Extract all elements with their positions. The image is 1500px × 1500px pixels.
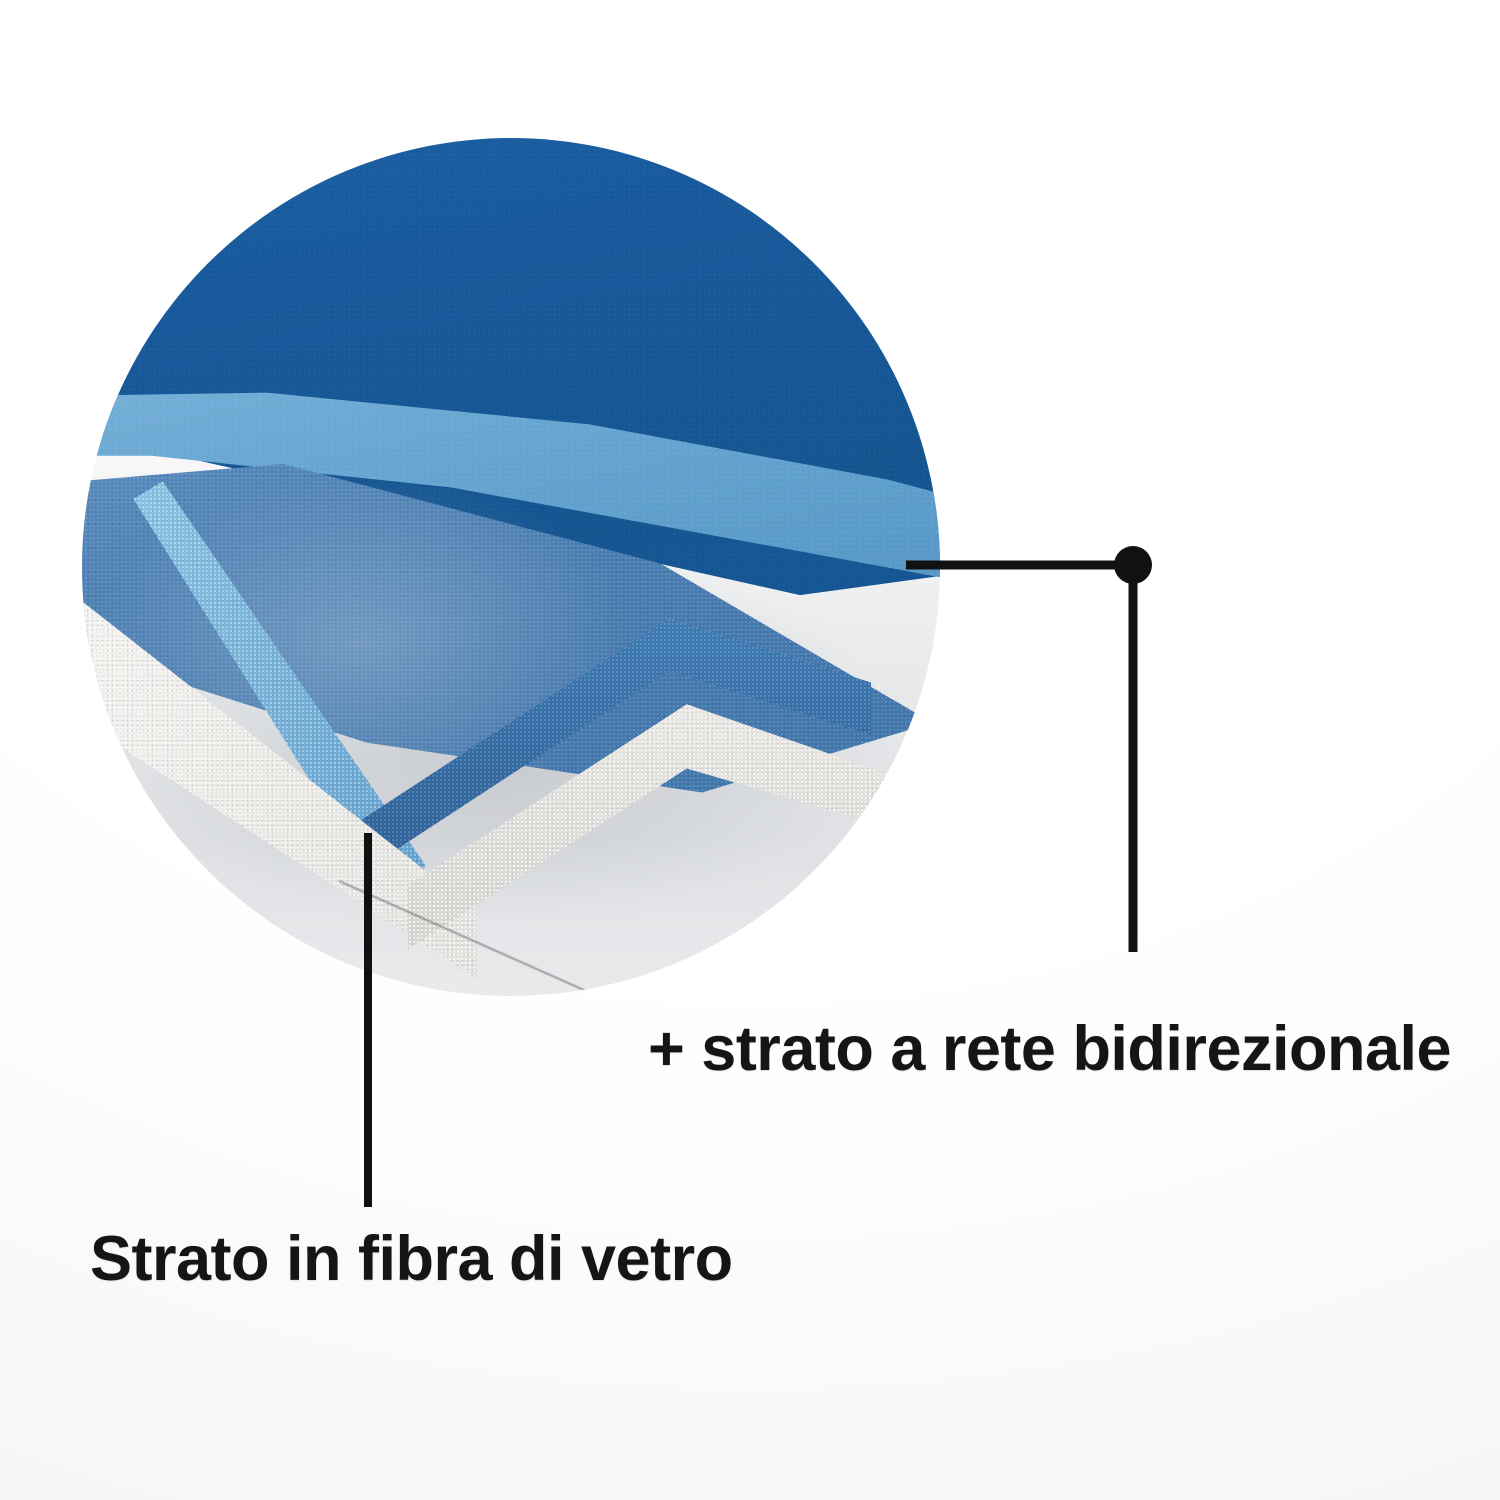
infographic-canvas: + strato a rete bidirezionale Strato in … <box>0 0 1500 1500</box>
product-circle-vignette <box>82 138 940 996</box>
mesh-callout-dot <box>1114 546 1152 584</box>
callout-label-fiberglass: Strato in fibra di vetro <box>90 1228 733 1291</box>
callout-label-bidirectional-mesh: + strato a rete bidirezionale <box>648 1018 1451 1081</box>
layered-panel <box>82 138 940 996</box>
